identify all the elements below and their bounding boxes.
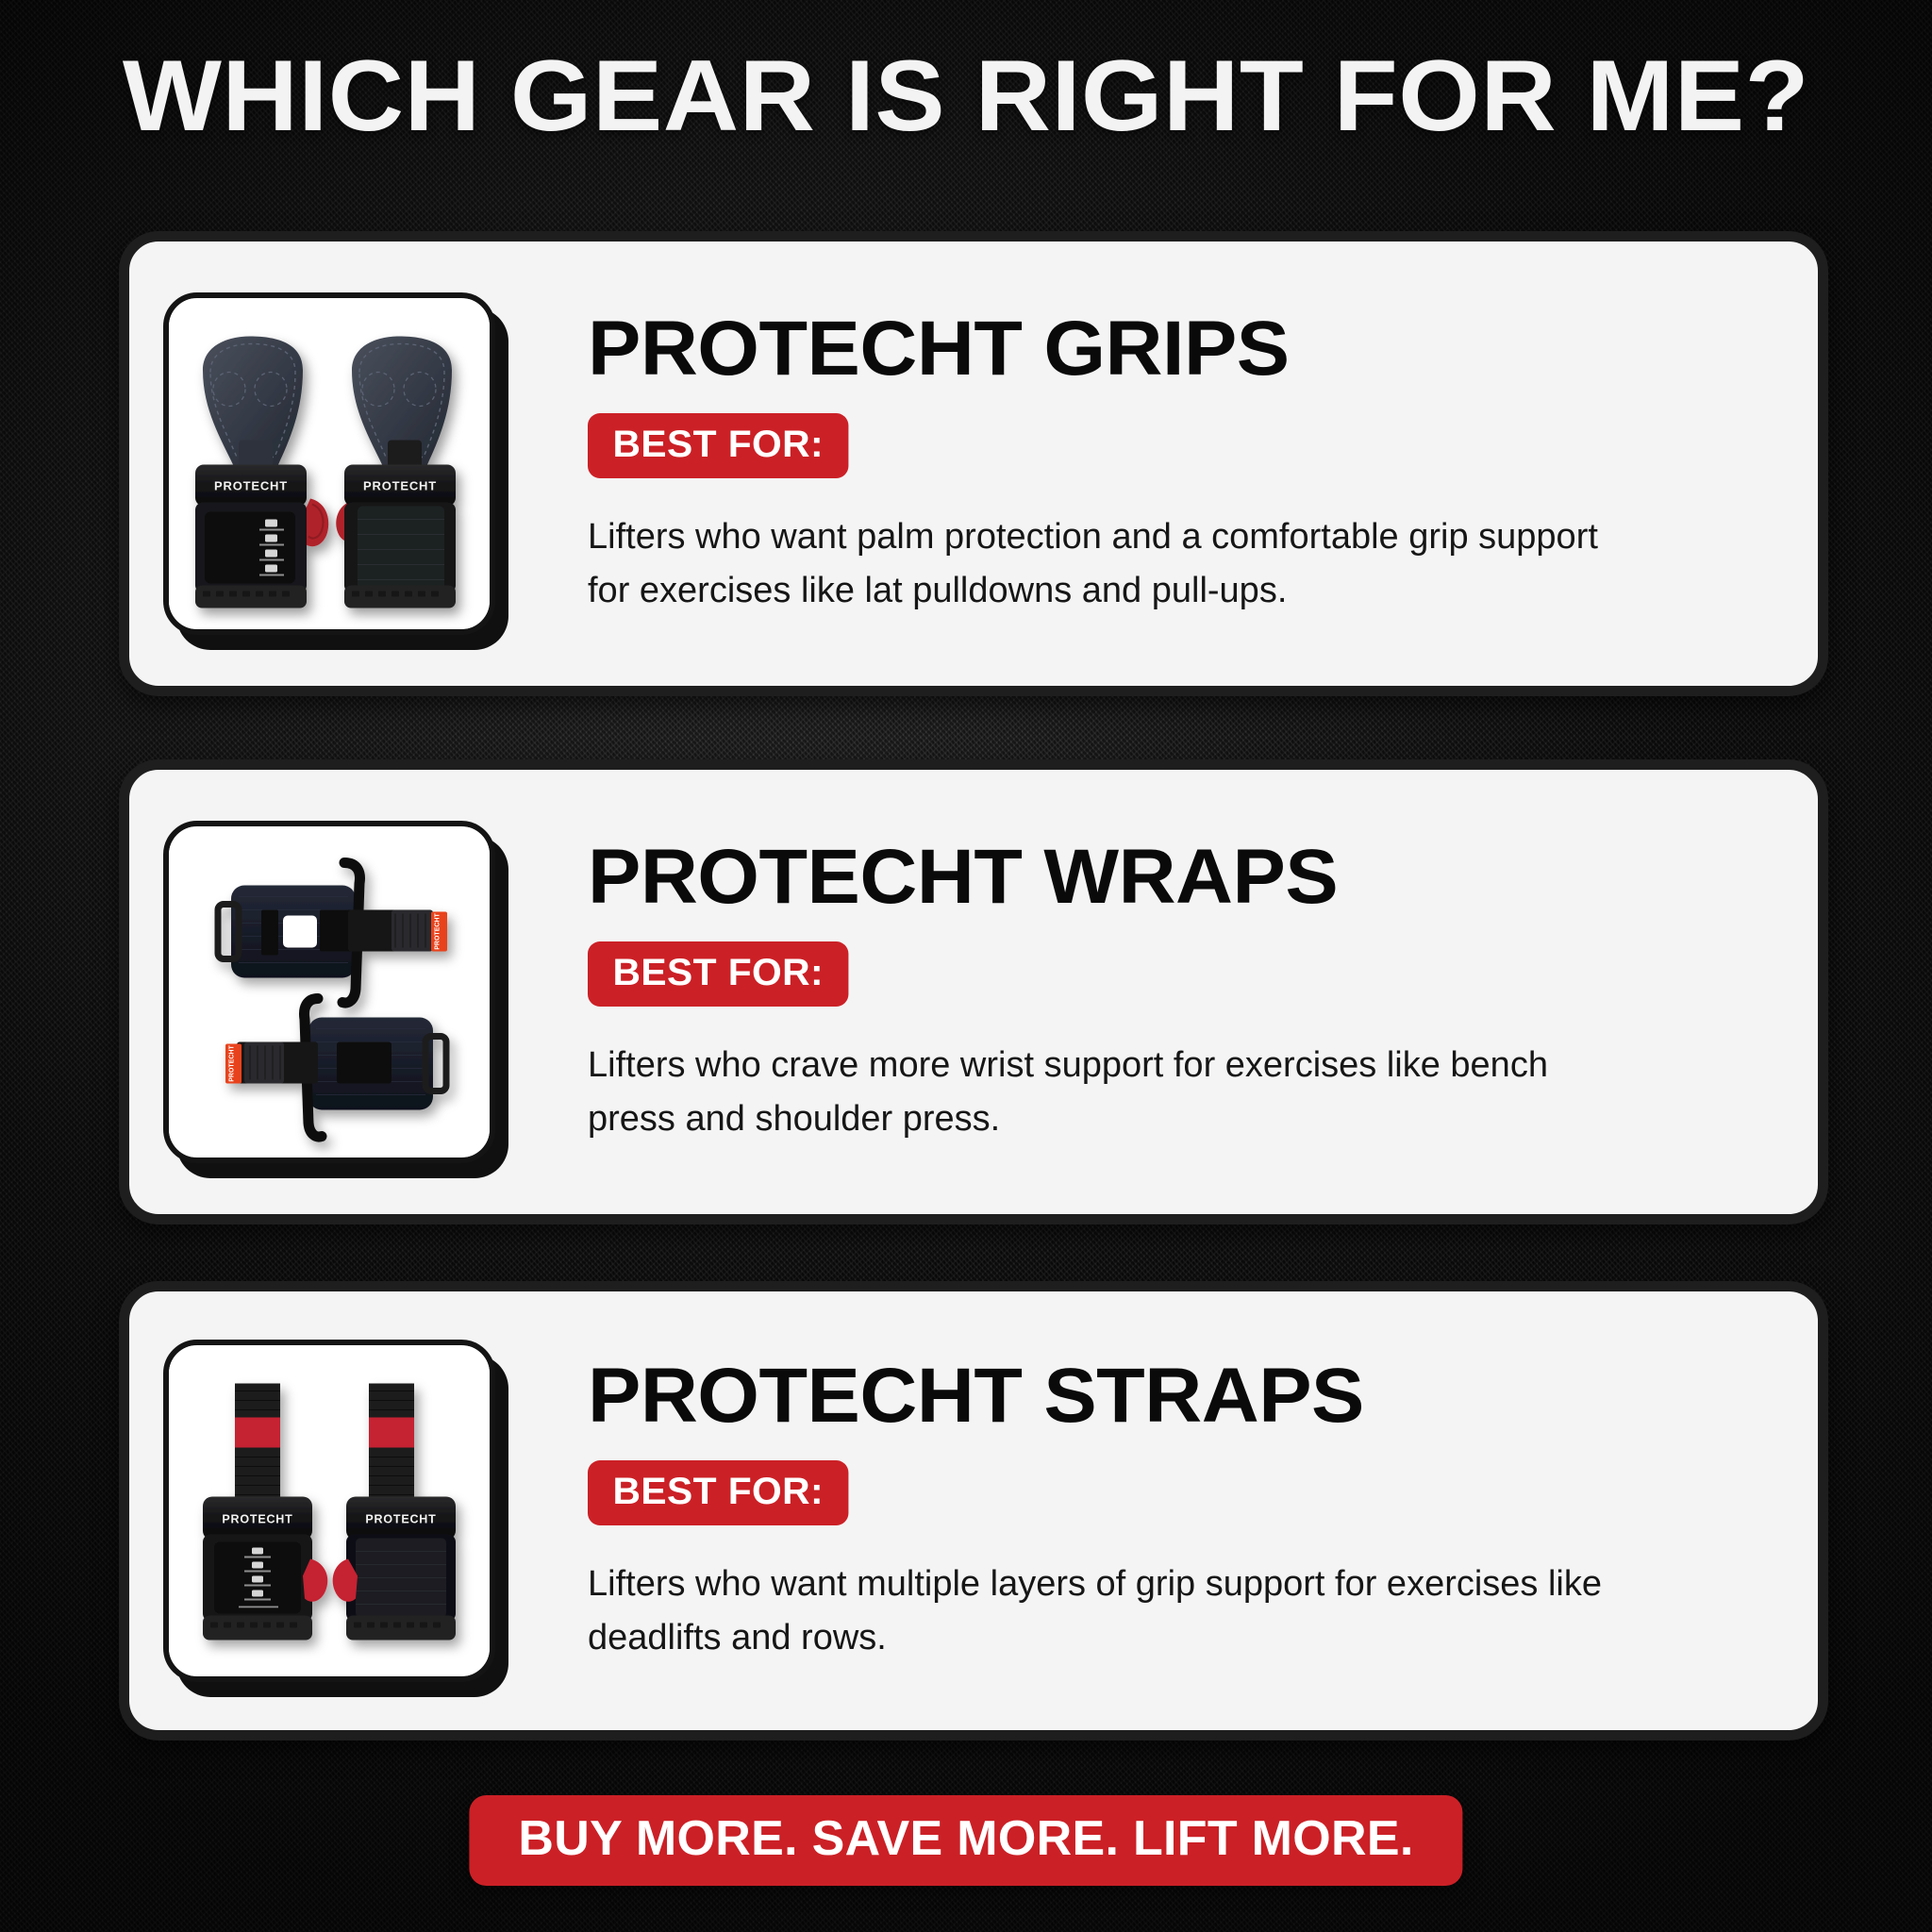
svg-text:PROTECHT: PROTECHT [363, 479, 437, 493]
wraps-illustration: PROTECHT [169, 826, 490, 1158]
thumbnail-frame: PROTECHT [163, 1340, 495, 1682]
card-description-wraps: Lifters who crave more wrist support for… [588, 1039, 1644, 1146]
product-image-straps: PROTECHT [163, 1340, 495, 1682]
card-title-grips: PROTECHT GRIPS [588, 309, 1796, 389]
svg-text:PROTECHT: PROTECHT [435, 913, 441, 950]
card-text-straps: PROTECHT STRAPS BEST FOR: Lifters who wa… [495, 1357, 1818, 1665]
infographic-page: WHICH GEAR IS RIGHT FOR ME? [0, 0, 1932, 1932]
grips-illustration: PROTECHT [169, 298, 490, 629]
svg-text:PROTECHT: PROTECHT [214, 479, 288, 493]
product-image-wraps: PROTECHT [163, 821, 495, 1163]
product-card-grips[interactable]: PROTECHT [119, 231, 1828, 696]
thumbnail-frame: PROTECHT [163, 292, 495, 635]
best-for-badge-straps: BEST FOR: [588, 1460, 849, 1525]
card-description-grips: Lifters who want palm protection and a c… [588, 510, 1644, 618]
svg-text:PROTECHT: PROTECHT [229, 1045, 236, 1082]
best-for-badge-wraps: BEST FOR: [588, 941, 849, 1007]
card-title-straps: PROTECHT STRAPS [588, 1357, 1796, 1436]
cta-banner[interactable]: BUY MORE. SAVE MORE. LIFT MORE. [469, 1795, 1462, 1886]
product-card-straps[interactable]: PROTECHT [119, 1281, 1828, 1740]
svg-text:PROTECHT: PROTECHT [222, 1513, 292, 1526]
thumbnail-frame: PROTECHT [163, 821, 495, 1163]
card-text-wraps: PROTECHT WRAPS BEST FOR: Lifters who cra… [495, 838, 1818, 1146]
svg-text:PROTECHT: PROTECHT [365, 1513, 436, 1526]
card-description-straps: Lifters who want multiple layers of grip… [588, 1557, 1644, 1665]
product-image-grips: PROTECHT [163, 292, 495, 635]
product-card-wraps[interactable]: PROTECHT [119, 759, 1828, 1224]
page-title: WHICH GEAR IS RIGHT FOR ME? [0, 43, 1932, 148]
straps-illustration: PROTECHT [169, 1345, 490, 1676]
best-for-badge-grips: BEST FOR: [588, 413, 849, 478]
card-title-wraps: PROTECHT WRAPS [588, 838, 1796, 917]
card-text-grips: PROTECHT GRIPS BEST FOR: Lifters who wan… [495, 309, 1818, 618]
